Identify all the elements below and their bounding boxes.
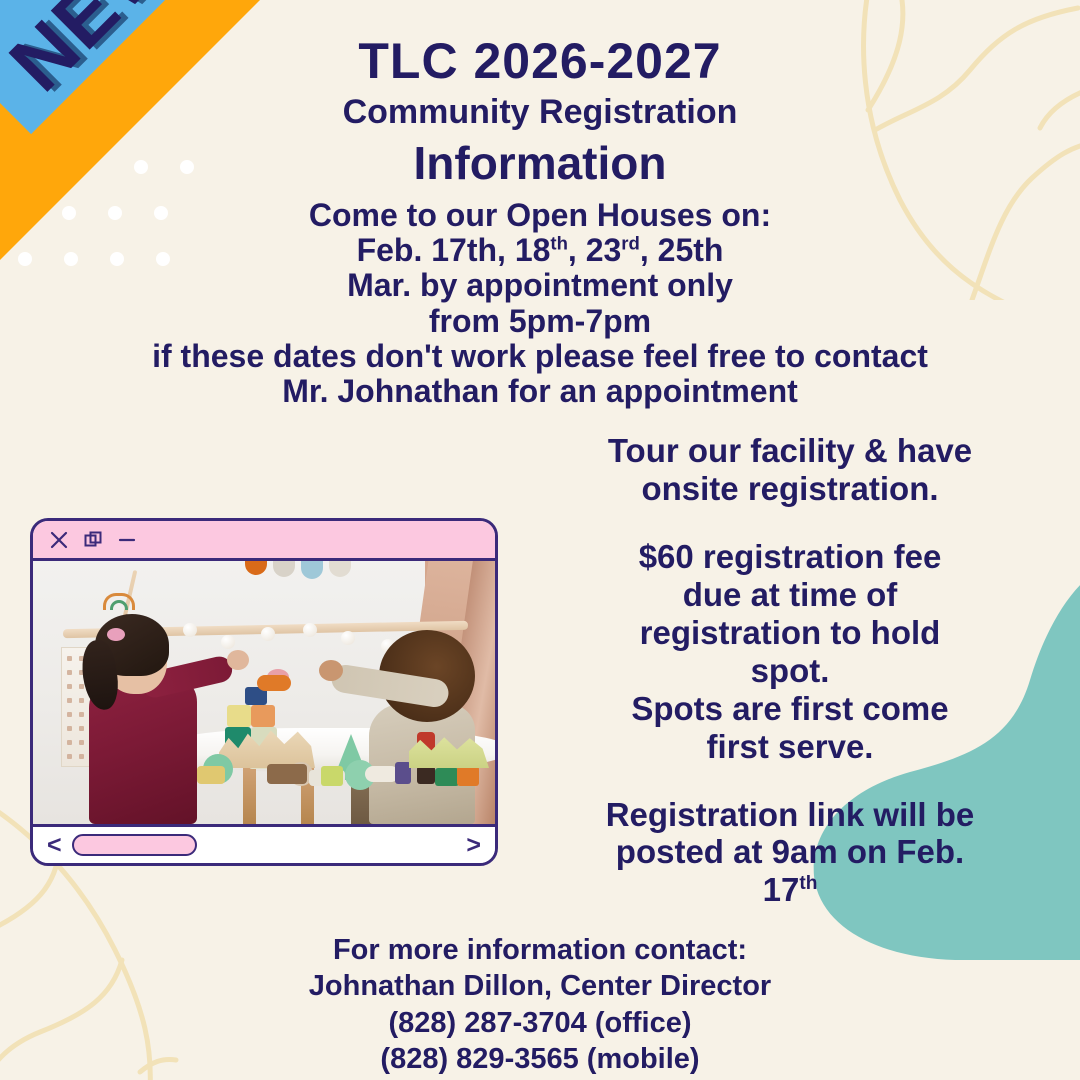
scroll-right-arrow[interactable]: >	[466, 833, 481, 858]
header-block: TLC 2026-2027 Community Registration Inf…	[160, 34, 920, 190]
poster-canvas: NEW TLC 2026-2027 Community Registration…	[0, 0, 1080, 1080]
dates-february-line: Feb. 17th, 18th, 23rd, 25th	[60, 233, 1020, 268]
feb-23-ordinal-suffix: rd	[621, 233, 640, 254]
page-heading: Information	[160, 137, 920, 190]
contact-footer: For more information contact: Johnathan …	[160, 932, 920, 1077]
minimize-dash-icon[interactable]	[117, 530, 137, 550]
fee-line-3: registration to hold	[540, 614, 1040, 652]
fee-line-2: due at time of	[540, 576, 1040, 614]
link-line-2: posted at 9am on Feb.	[540, 833, 1040, 871]
scroll-left-arrow[interactable]: <	[47, 833, 62, 858]
feb-18-ordinal-suffix: th	[550, 233, 568, 254]
fee-line-6: first serve.	[540, 728, 1040, 766]
dates-contact-line-1: if these dates don't work please feel fr…	[60, 339, 1020, 374]
window-viewport	[33, 561, 495, 824]
link-line-1: Registration link will be	[540, 796, 1040, 834]
link-line-3: 17th	[540, 871, 1040, 909]
tour-line-1: Tour our facility & have	[540, 432, 1040, 470]
feb-17-ordinal-suffix: th	[799, 873, 817, 894]
tour-line-2: onsite registration.	[540, 470, 1040, 508]
tour-paragraph: Tour our facility & have onsite registra…	[540, 432, 1040, 508]
page-subtitle: Community Registration	[160, 92, 920, 133]
playroom-children-photo	[33, 561, 495, 824]
fee-line-4: spot.	[540, 652, 1040, 690]
scrollbar-thumb[interactable]	[72, 834, 197, 856]
scrollbar-track[interactable]	[72, 834, 457, 856]
registration-link-paragraph: Registration link will be posted at 9am …	[540, 796, 1040, 910]
page-title: TLC 2026-2027	[160, 34, 920, 88]
dates-contact-line-2: Mr. Johnathan for an appointment	[60, 374, 1020, 409]
fee-line-5: Spots are first come	[540, 690, 1040, 728]
dates-intro-line: Come to our Open Houses on:	[60, 198, 1020, 233]
restore-window-icon[interactable]	[83, 530, 103, 550]
close-x-icon[interactable]	[49, 530, 69, 550]
open-house-dates-block: Come to our Open Houses on: Feb. 17th, 1…	[60, 198, 1020, 409]
fee-paragraph: $60 registration fee due at time of regi…	[540, 538, 1040, 766]
contact-office-phone: (828) 287-3704 (office)	[160, 1005, 920, 1041]
contact-intro: For more information contact:	[160, 932, 920, 968]
contact-mobile-phone: (828) 829-3565 (mobile)	[160, 1041, 920, 1077]
dates-march-line: Mar. by appointment only	[60, 268, 1020, 303]
photo-child-right	[331, 624, 489, 824]
horizontal-scrollbar[interactable]: < >	[33, 824, 495, 863]
fee-line-1: $60 registration fee	[540, 538, 1040, 576]
dates-time-line: from 5pm-7pm	[60, 304, 1020, 339]
browser-window-mockup: < >	[30, 518, 498, 866]
contact-name-title: Johnathan Dillon, Center Director	[160, 968, 920, 1004]
photo-wooden-toys	[159, 732, 495, 794]
window-title-bar	[33, 521, 495, 561]
details-column: Tour our facility & have onsite registra…	[540, 432, 1040, 909]
